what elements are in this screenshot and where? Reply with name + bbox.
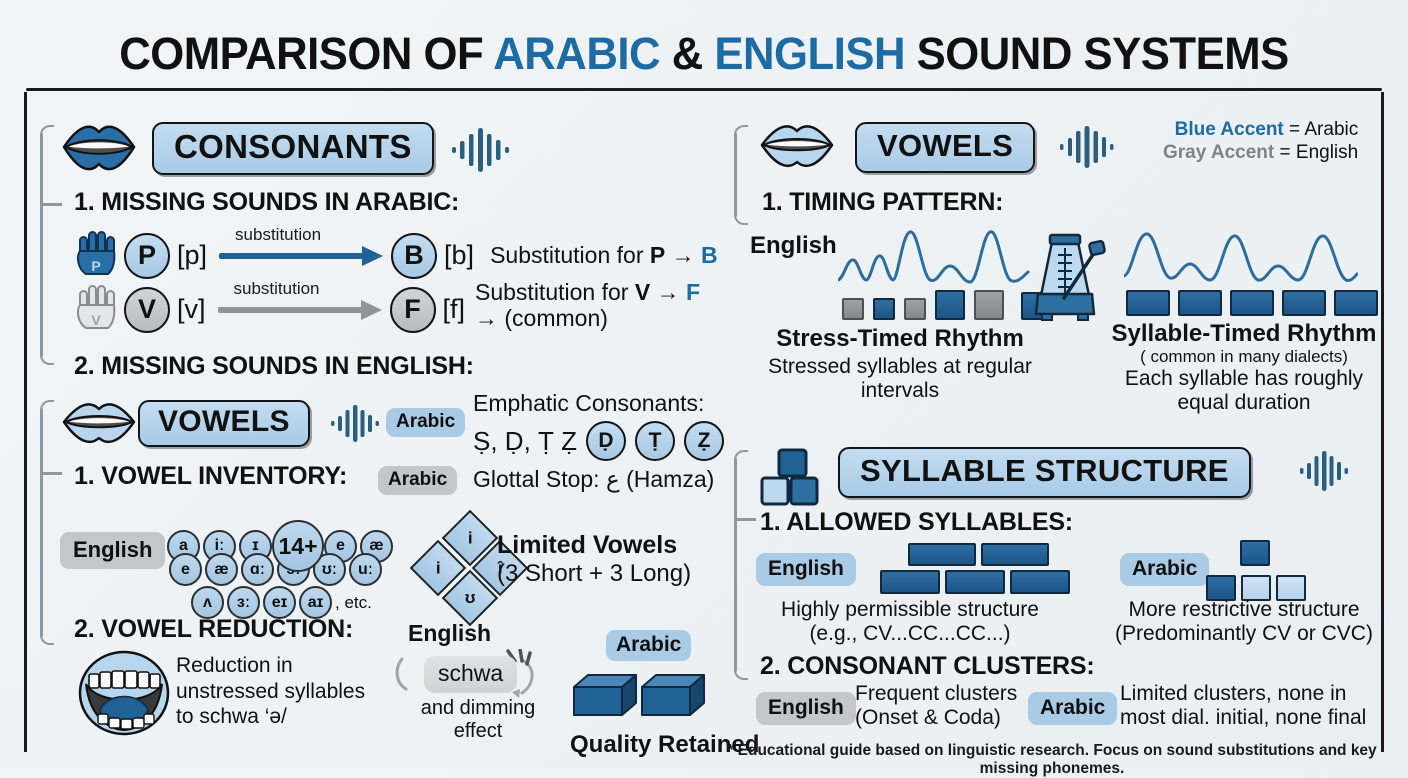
arabic-tag-glottal: Arabic bbox=[378, 466, 457, 495]
vowel-etc-label: , etc. bbox=[335, 593, 372, 613]
arabic-chip-quality: Arabic bbox=[606, 630, 691, 661]
title-mid: & bbox=[660, 28, 714, 79]
arabic-tag-syllables: Arabic bbox=[1120, 553, 1209, 586]
consonants-section-1-title: 1. MISSING SOUNDS IN ARABIC: bbox=[74, 188, 459, 217]
syllable-header-label: SYLLABLE STRUCTURE bbox=[860, 453, 1229, 489]
vowels-left-header-label: VOWELS bbox=[158, 405, 290, 439]
schwa-english-label: English bbox=[408, 620, 558, 647]
english-brick-stack bbox=[880, 543, 1070, 594]
emphatic-plain: Ṣ, Ḍ, Ṭ Ẓ bbox=[473, 426, 577, 457]
title-arabic: ARABIC bbox=[493, 28, 660, 79]
footer-note: * Educational guide based on linguistic … bbox=[718, 742, 1386, 778]
rhythm-box bbox=[1178, 290, 1222, 316]
arabic-clusters-desc: Limited clusters, none in most dial. ini… bbox=[1120, 682, 1366, 730]
emphatic-circle-t: Ṭ bbox=[635, 421, 675, 461]
vowel-inventory-title: 1. VOWEL INVENTORY: bbox=[74, 462, 347, 491]
substitution-arrow-p: substitution bbox=[219, 241, 389, 271]
legend: Blue Accent = Arabic Gray Accent = Engli… bbox=[1163, 118, 1358, 164]
rhythm-box bbox=[1282, 290, 1326, 316]
metronome-icon bbox=[1022, 228, 1108, 327]
blocks-icon bbox=[760, 448, 822, 511]
vowels-right-bracket bbox=[734, 125, 758, 225]
legend-blue-value: = Arabic bbox=[1284, 119, 1358, 140]
ipa-f: [f] bbox=[443, 294, 466, 325]
brick bbox=[880, 570, 940, 594]
glottal-stop-text: Glottal Stop: ع (Hamza) bbox=[473, 466, 714, 493]
emphatic-circle-z: Ẓ bbox=[684, 421, 724, 461]
substitution-row-p: P P [p] substitution B [b] Substitution … bbox=[76, 229, 718, 282]
syllable-timed-sub: ( common in many dialects) bbox=[1104, 348, 1384, 367]
timing-english-label: English bbox=[750, 232, 837, 260]
rhythm-box bbox=[904, 298, 926, 320]
title-pre: COMPARISON OF bbox=[119, 28, 493, 79]
legend-gray-value: = English bbox=[1274, 142, 1358, 163]
hand-icon-p: P bbox=[76, 229, 120, 282]
stress-timed-caption: Stress-Timed Rhythm Stressed syllables a… bbox=[760, 325, 1040, 403]
title-post: SOUND SYSTEMS bbox=[905, 28, 1289, 79]
arabic-block-stack bbox=[1206, 540, 1306, 601]
substitution-arrow-p-label: substitution bbox=[235, 225, 321, 245]
emphatic-circle-d: Ḍ bbox=[586, 421, 626, 461]
open-mouth-icon bbox=[78, 650, 170, 741]
substitution-note-v-extra: → (common) bbox=[475, 306, 700, 332]
soundwave-icon-vowels-right bbox=[1060, 124, 1118, 175]
limited-vowels-sub: (3 Short + 3 Long) bbox=[497, 560, 691, 587]
lips-icon-vowels-left bbox=[60, 398, 138, 453]
stress-timed-desc: Stressed syllables at regular intervals bbox=[760, 355, 1040, 403]
rhythm-box bbox=[1230, 290, 1274, 316]
english-tag-clusters: English bbox=[756, 692, 856, 725]
hand-icon-v: V bbox=[76, 283, 120, 336]
vowel-reduction-desc: Reduction in unstressed syllables to sch… bbox=[176, 653, 365, 730]
substitution-arrow-v: substitution bbox=[218, 295, 388, 325]
vowel-bubble: æ bbox=[205, 553, 238, 586]
brick bbox=[1010, 570, 1070, 594]
ipa-p: [p] bbox=[177, 240, 207, 271]
brick bbox=[945, 570, 1005, 594]
legend-blue-label: Blue Accent bbox=[1175, 119, 1284, 140]
syllable-timed-caption: Syllable-Timed Rhythm ( common in many d… bbox=[1104, 320, 1384, 415]
syllable-timed-desc: Each syllable has roughly equal duration bbox=[1104, 367, 1384, 415]
english-clusters-desc: Frequent clusters (Onset & Coda) bbox=[855, 682, 1017, 730]
rhythm-box bbox=[1334, 290, 1378, 316]
allowed-syllables-title: 1. ALLOWED SYLLABLES: bbox=[760, 508, 1073, 537]
phoneme-circle-b: B bbox=[391, 233, 437, 279]
soundwave-icon bbox=[452, 126, 514, 179]
arabic-3d-blocks-icon bbox=[570, 669, 759, 730]
consonants-header-badge: CONSONANTS bbox=[152, 122, 434, 175]
ipa-b: [b] bbox=[444, 240, 474, 271]
consonants-header-label: CONSONANTS bbox=[174, 128, 412, 166]
arabic-tag-emphatic: Arabic bbox=[386, 408, 465, 437]
timing-pattern-title: 1. TIMING PATTERN: bbox=[762, 188, 1003, 217]
limited-vowels-title: Limited Vowels bbox=[497, 531, 691, 560]
phoneme-circle-v: V bbox=[124, 287, 170, 333]
substitution-row-v: V V [v] substitution F [f] bbox=[76, 283, 465, 336]
schwa-chip: schwa bbox=[424, 656, 517, 693]
ipa-v: [v] bbox=[177, 294, 206, 325]
vowel-bubble: uː bbox=[349, 553, 382, 586]
vowel-bubble-cluster: a iː ɪ 14+ e æ e æ ɑː ɔː ʊː uː ʌ ɜː eɪ a… bbox=[167, 508, 397, 598]
emphatic-title: Emphatic Consonants: bbox=[473, 390, 704, 417]
phoneme-circle-f: F bbox=[390, 287, 436, 333]
vowel-reduction-title: 2. VOWEL REDUCTION: bbox=[74, 615, 353, 644]
infographic-root: COMPARISON OF ARABIC & ENGLISH SOUND SYS… bbox=[0, 0, 1408, 768]
left-border-rule bbox=[24, 92, 27, 752]
title-english: ENGLISH bbox=[714, 28, 905, 79]
stress-timed-waveform bbox=[838, 222, 1030, 299]
consonants-section-2-title: 2. MISSING SOUNDS IN ENGLISH: bbox=[74, 352, 474, 381]
substitution-note-p: Substitution for P → B bbox=[490, 242, 718, 269]
syllable-timed-boxes bbox=[1126, 290, 1378, 316]
syllable-header-badge: SYLLABLE STRUCTURE bbox=[838, 447, 1251, 498]
vowel-bubble: e bbox=[169, 553, 202, 586]
lips-icon bbox=[60, 120, 138, 181]
syllable-timed-waveform bbox=[1124, 222, 1358, 299]
title-divider bbox=[26, 88, 1382, 91]
rhythm-box bbox=[974, 290, 1004, 320]
vowel-bubble: ɑː bbox=[241, 553, 274, 586]
substitution-note-v: Substitution for V → F → (common) bbox=[475, 280, 700, 332]
consonant-clusters-title: 2. CONSONANT CLUSTERS: bbox=[760, 652, 1095, 681]
rhythm-box bbox=[873, 298, 895, 320]
substitution-arrow-v-label: substitution bbox=[234, 279, 320, 299]
stress-timed-boxes bbox=[842, 290, 1049, 320]
limited-vowels-text: Limited Vowels (3 Short + 3 Long) bbox=[497, 531, 691, 587]
page-title: COMPARISON OF ARABIC & ENGLISH SOUND SYS… bbox=[0, 28, 1408, 80]
emphatic-consonants-row: Ṣ, Ḍ, Ṭ Ẓ Ḍ Ṭ Ẓ bbox=[473, 421, 724, 461]
english-tag-inventory: English bbox=[60, 532, 165, 569]
english-syllable-desc: Highly permissible structure (e.g., CV..… bbox=[760, 598, 1060, 646]
rhythm-box bbox=[842, 298, 864, 320]
vowels-right-header-label: VOWELS bbox=[877, 128, 1013, 164]
rhythm-box bbox=[1126, 290, 1170, 316]
legend-gray-label: Gray Accent bbox=[1163, 142, 1274, 163]
arabic-syllable-desc: More restrictive structure (Predominantl… bbox=[1094, 598, 1394, 646]
syllable-block bbox=[1240, 540, 1270, 566]
svg-text:V: V bbox=[91, 312, 101, 328]
english-tag-syllables: English bbox=[756, 553, 856, 586]
soundwave-icon-syllable bbox=[1300, 450, 1352, 497]
vowels-right-header-badge: VOWELS bbox=[855, 122, 1035, 173]
brick bbox=[908, 543, 976, 566]
rhythm-box bbox=[935, 290, 965, 320]
stress-timed-title: Stress-Timed Rhythm bbox=[760, 325, 1040, 353]
arabic-tag-clusters: Arabic bbox=[1028, 692, 1117, 725]
syllable-bracket bbox=[734, 450, 758, 680]
quality-retained-group: Arabic Quality Retained bbox=[570, 630, 759, 759]
svg-text:P: P bbox=[91, 258, 100, 274]
soundwave-icon-vowels-left bbox=[331, 404, 383, 449]
lips-icon-vowels-right bbox=[758, 120, 836, 177]
schwa-group: English schwa and dimming effect bbox=[408, 620, 558, 743]
vowel-count-bubble: 14+ bbox=[272, 520, 324, 572]
phoneme-circle-p: P bbox=[124, 233, 170, 279]
right-border-rule bbox=[1381, 92, 1384, 752]
vowels-left-header-badge: VOWELS bbox=[138, 400, 310, 447]
syllable-timed-title: Syllable-Timed Rhythm bbox=[1104, 320, 1384, 348]
brick bbox=[981, 543, 1049, 566]
